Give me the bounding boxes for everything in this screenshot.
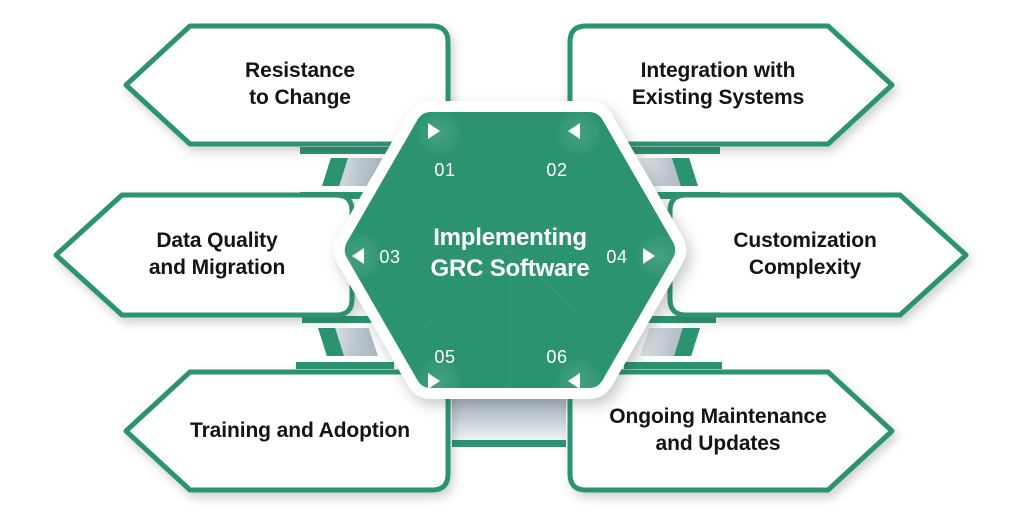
left-arrow-icon bbox=[568, 373, 580, 389]
node-callout-03[interactable]: Data Quality and Migration bbox=[50, 191, 356, 319]
hex-number-06: 06 bbox=[537, 348, 577, 366]
right-arrow-icon bbox=[428, 373, 440, 389]
node-callout-04[interactable]: Customization Complexity bbox=[666, 191, 972, 319]
left-arrow-icon bbox=[568, 123, 580, 139]
node-label-03: Data Quality and Migration bbox=[135, 228, 299, 282]
hex-number-01: 01 bbox=[425, 161, 465, 179]
hex-number-05: 05 bbox=[425, 348, 465, 366]
node-label-05: Training and Adoption bbox=[176, 418, 424, 445]
hex-number-02: 02 bbox=[537, 161, 577, 179]
diagram-canvas: Resistance to Change Integration with Ex… bbox=[0, 0, 1024, 516]
node-label-04: Customization Complexity bbox=[719, 228, 890, 282]
hexagon-title: Implementing GRC Software bbox=[333, 222, 687, 284]
node-label-06: Ongoing Maintenance and Updates bbox=[595, 404, 840, 458]
connector-cap bbox=[452, 440, 566, 447]
right-arrow-icon bbox=[428, 123, 440, 139]
